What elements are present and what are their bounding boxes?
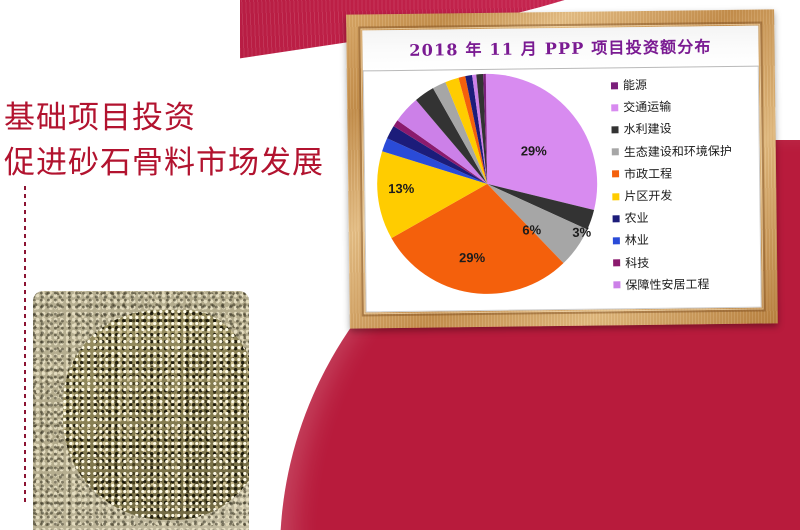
- legend-label: 交通运输: [623, 101, 671, 114]
- pie-slice-label: 13%: [388, 181, 415, 196]
- legend-item[interactable]: 市政工程: [612, 161, 754, 185]
- legend-swatch-icon: [613, 259, 620, 266]
- pie-chart: 29%3%6%29%13%: [373, 71, 604, 300]
- chart-plot-area: 29%3%6%29%13% 能源交通运输水利建设生态建设和环境保护市政工程片区开…: [363, 67, 762, 313]
- legend-label: 能源: [623, 79, 647, 91]
- dotted-divider: [24, 186, 26, 506]
- legend-item[interactable]: 农业: [612, 206, 754, 230]
- legend-swatch-icon: [612, 193, 619, 200]
- legend-item[interactable]: 林业: [613, 228, 755, 252]
- legend-item[interactable]: 保障性安居工程: [613, 272, 755, 296]
- pie-slice-label: 29%: [459, 250, 486, 265]
- pie-slice-label: 3%: [572, 225, 591, 240]
- pie-slice-label: 29%: [521, 143, 548, 158]
- slide-canvas: 基础项目投资 促进砂石骨料市场发展 2018 年 11 月 PPP 项目投资额分…: [0, 0, 800, 530]
- pie-slice-label: 6%: [522, 222, 541, 237]
- photo-gravel-pile: [63, 310, 249, 520]
- pie-svg: 29%3%6%29%13%: [373, 71, 604, 300]
- headline-line-1: 基础项目投资: [4, 96, 354, 141]
- legend-swatch-icon: [612, 171, 619, 178]
- chart-legend: 能源交通运输水利建设生态建设和环境保护市政工程片区开发农业林业科技保障性安居工程: [611, 73, 756, 297]
- legend-swatch-icon: [612, 148, 619, 155]
- chart-panel: 2018 年 11 月 PPP 项目投资额分布 29%3%6%29%13% 能源…: [362, 26, 761, 313]
- legend-swatch-icon: [611, 82, 618, 89]
- legend-swatch-icon: [613, 237, 620, 244]
- headline-line-2: 促进砂石骨料市场发展: [4, 141, 354, 186]
- legend-label: 市政工程: [624, 167, 672, 180]
- chart-title: 2018 年 11 月 PPP 项目投资额分布: [362, 33, 758, 62]
- legend-item[interactable]: 片区开发: [612, 184, 754, 208]
- legend-label: 农业: [625, 212, 649, 224]
- legend-item[interactable]: 水利建设: [611, 117, 753, 141]
- legend-swatch-icon: [613, 215, 620, 222]
- legend-label: 科技: [625, 257, 649, 269]
- legend-swatch-icon: [611, 126, 618, 133]
- legend-label: 片区开发: [624, 190, 672, 203]
- legend-label: 保障性安居工程: [625, 278, 709, 291]
- legend-item[interactable]: 科技: [613, 250, 755, 274]
- aggregate-photo: [33, 291, 249, 530]
- legend-item[interactable]: 能源: [611, 73, 753, 97]
- chart-header: 2018 年 11 月 PPP 项目投资额分布: [362, 26, 758, 72]
- headline: 基础项目投资 促进砂石骨料市场发展: [4, 96, 354, 186]
- legend-swatch-icon: [611, 104, 618, 111]
- legend-swatch-icon: [613, 282, 620, 289]
- legend-item[interactable]: 生态建设和环境保护: [612, 139, 754, 163]
- legend-label: 生态建设和环境保护: [624, 145, 732, 158]
- legend-label: 水利建设: [623, 123, 671, 136]
- wooden-picture-frame: 2018 年 11 月 PPP 项目投资额分布 29%3%6%29%13% 能源…: [346, 9, 778, 328]
- legend-item[interactable]: 交通运输: [611, 95, 753, 119]
- legend-label: 林业: [625, 234, 649, 246]
